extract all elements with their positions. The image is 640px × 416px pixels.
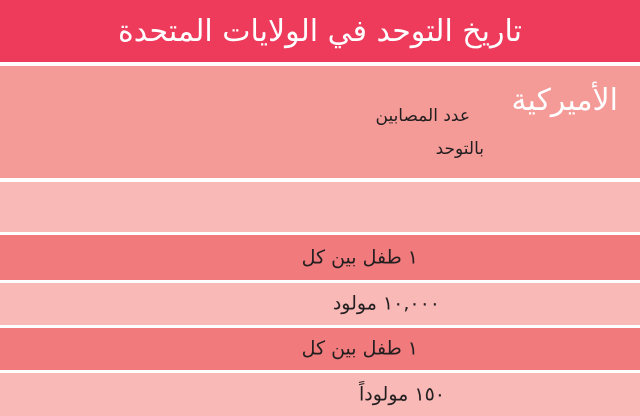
subheading: عدد المصابين بالتوحد bbox=[240, 100, 470, 166]
autism-history-infographic: تاريخ التوحد في الولايات المتحدة الأميرك… bbox=[0, 0, 640, 416]
stat-text: ١٠,٠٠٠ مولود bbox=[333, 295, 440, 314]
page-title-continuation: الأميركية bbox=[511, 86, 618, 116]
stat-text: ١ طفل بين كل bbox=[302, 340, 418, 359]
spacer-band bbox=[0, 182, 640, 232]
stat-row: ١ طفل بين كل bbox=[0, 235, 640, 280]
stat-row: ١٠,٠٠٠ مولود bbox=[0, 283, 640, 325]
subheading-line-2: بالتوحد bbox=[240, 133, 484, 166]
stat-text: ١٥٠ مولوداً bbox=[359, 385, 445, 404]
title-continuation-band: الأميركية عدد المصابين بالتوحد bbox=[0, 66, 640, 178]
stat-row: ١ طفل بين كل bbox=[0, 328, 640, 370]
page-title: تاريخ التوحد في الولايات المتحدة bbox=[118, 16, 522, 48]
stat-text: ١ طفل بين كل bbox=[302, 248, 418, 267]
subheading-line-1: عدد المصابين bbox=[240, 100, 470, 133]
header-banner: تاريخ التوحد في الولايات المتحدة bbox=[0, 0, 640, 62]
stat-row: ١٥٠ مولوداً bbox=[0, 373, 640, 416]
